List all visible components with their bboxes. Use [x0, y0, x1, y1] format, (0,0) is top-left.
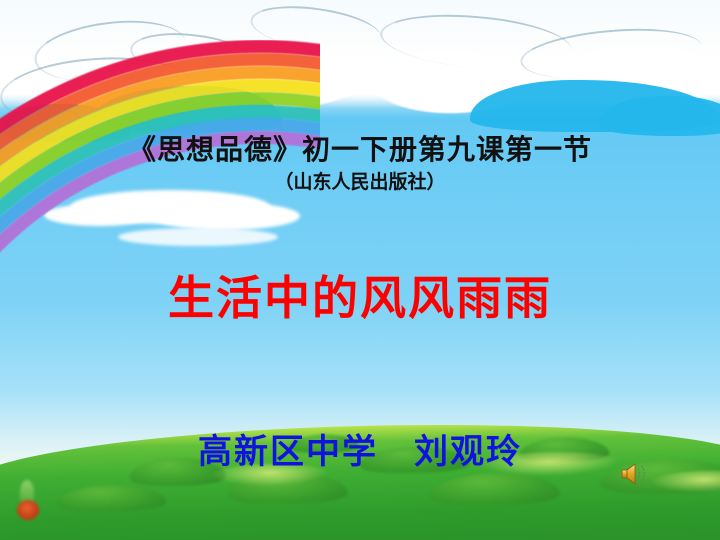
speaker-icon[interactable]	[620, 461, 650, 487]
presentation-slide: 《思想品德》初一下册第九课第一节 （山东人民出版社） 生活中的风风雨雨 高新区中…	[0, 0, 720, 540]
slide-main-title: 生活中的风风雨雨	[0, 262, 720, 328]
presenter-name: 高新区中学 刘观玲	[0, 424, 720, 473]
bush	[430, 472, 561, 507]
bush	[56, 484, 167, 512]
red-flower	[17, 500, 39, 520]
course-title: 《思想品德》初一下册第九课第一节	[0, 128, 720, 168]
publisher-name: （山东人民出版社）	[0, 167, 720, 194]
